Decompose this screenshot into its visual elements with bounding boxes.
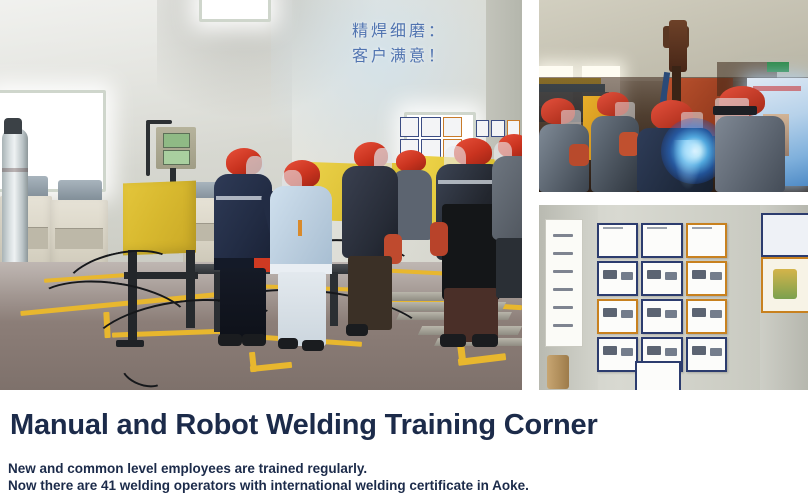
framed-chart-grid [597,223,727,372]
wall-poster [421,117,440,137]
control-panel-arm [146,122,150,176]
framed-chart [686,299,727,334]
wall-slogan-line-1: 精焊细磨： [352,18,482,43]
gas-cylinder [2,128,28,280]
control-panel-screen-lower [163,150,190,165]
framed-chart [641,299,682,334]
window-top [199,0,271,22]
framed-chart [597,223,638,258]
framed-chart [597,337,638,372]
framed-chart [686,223,727,258]
framed-chart [686,261,727,296]
framed-safety-poster [761,257,808,313]
framed-notice [761,213,808,257]
control-panel [156,127,196,169]
wall-poster [443,117,462,137]
shelf-container [547,355,569,389]
welding-curtain-screen [123,181,196,256]
page-title: Manual and Robot Welding Training Corner [10,408,598,442]
exit-sign-icon [767,62,789,72]
title-block: Manual and Robot Welding Training Corner [10,408,598,442]
slide-root: 精焊细磨： 客户满意！ [0,0,808,497]
wall-poster [476,120,489,137]
wall-document-sheet [545,219,583,347]
worker-figure [492,134,522,304]
framed-chart [597,299,638,334]
subtitle-line-1: New and common level employees are train… [8,460,529,477]
subtitle-block: New and common level employees are train… [8,460,529,494]
control-panel-screen-upper [163,133,190,148]
welding-sparks [673,140,703,190]
framed-chart [635,361,681,390]
framed-chart [641,261,682,296]
worker-figure [715,86,789,192]
worker-figure [539,98,591,192]
photo-robot-welding-cell [539,0,808,192]
framed-chart [641,223,682,258]
machine-top-unit [58,180,102,202]
worker-figure [268,160,336,350]
welding-glove-icon [569,144,589,166]
gas-cylinder-valve [4,118,22,134]
wall-poster [400,117,419,137]
photo-manual-welding-training: 精焊细磨： 客户满意！ [0,0,522,390]
wall-slogan-line-2: 客户满意！ [352,43,482,68]
wall-slogan: 精焊细磨： 客户满意！ [352,18,482,72]
worker-figure [340,142,402,342]
subtitle-line-2: Now there are 41 welding operators with … [8,477,529,494]
robot-arm [669,20,687,72]
gas-cylinder-band [2,168,28,172]
framed-chart [597,261,638,296]
welding-glove-icon [619,132,639,156]
framed-chart [686,337,727,372]
welding-glove-icon [430,222,448,256]
photo-welding-procedure-board [539,205,808,390]
worker-figure [591,92,639,192]
